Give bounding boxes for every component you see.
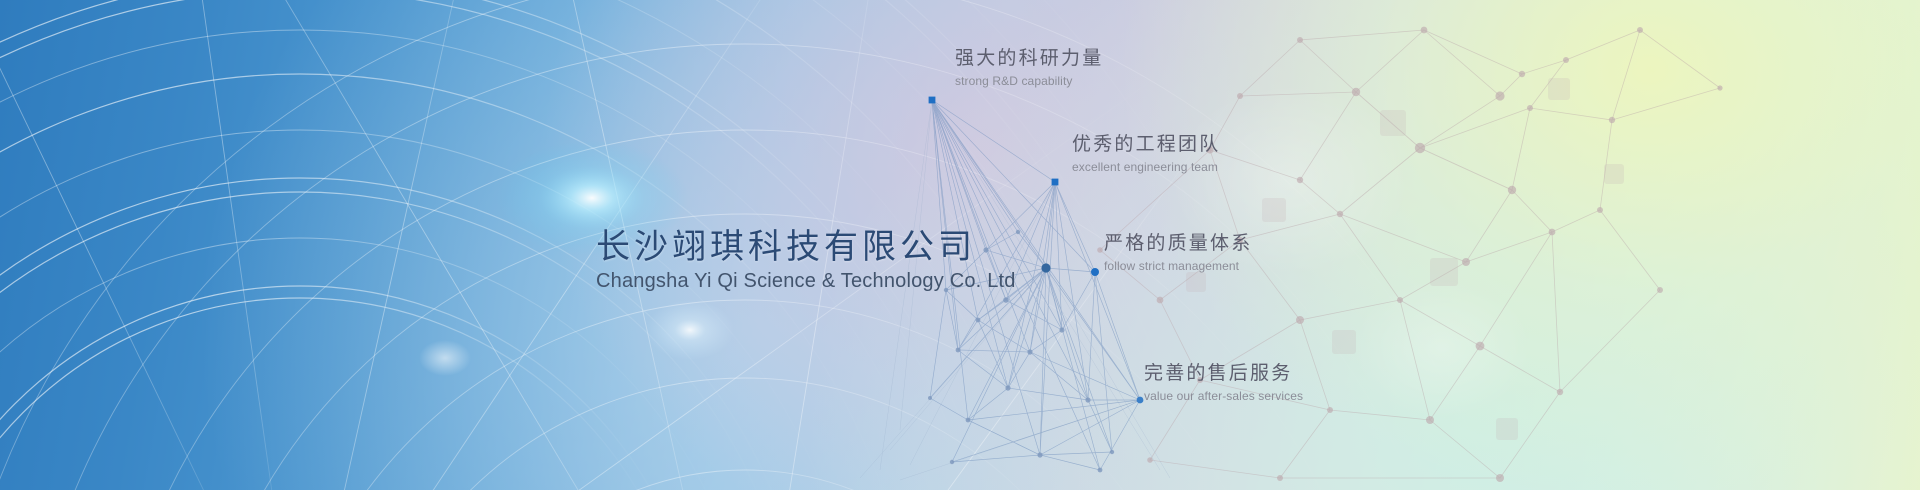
company-title-block: 长沙翊琪科技有限公司 Changsha Yi Qi Science & Tech… (596, 228, 1016, 293)
feature-callout-quality: 严格的质量体系 follow strict management (1104, 232, 1252, 273)
feature-title-cn: 强大的科研力量 (955, 47, 1103, 71)
feature-subtitle-en: strong R&D capability (955, 74, 1103, 88)
feature-subtitle-en: follow strict management (1104, 259, 1252, 273)
company-name-en: Changsha Yi Qi Science & Technology Co. … (596, 270, 1016, 293)
feature-title-cn: 严格的质量体系 (1104, 232, 1252, 256)
company-name-cn: 长沙翊琪科技有限公司 (596, 228, 1016, 266)
feature-title-cn: 完善的售后服务 (1144, 362, 1303, 386)
feature-callout-engineering: 优秀的工程团队 excellent engineering team (1072, 133, 1220, 174)
feature-subtitle-en: excellent engineering team (1072, 160, 1220, 174)
feature-callout-aftersales: 完善的售后服务 value our after-sales services (1144, 362, 1303, 403)
feature-callout-rd: 强大的科研力量 strong R&D capability (955, 47, 1103, 88)
feature-subtitle-en: value our after-sales services (1144, 389, 1303, 403)
feature-title-cn: 优秀的工程团队 (1072, 133, 1220, 157)
company-hero-banner: 长沙翊琪科技有限公司 Changsha Yi Qi Science & Tech… (0, 0, 1920, 490)
